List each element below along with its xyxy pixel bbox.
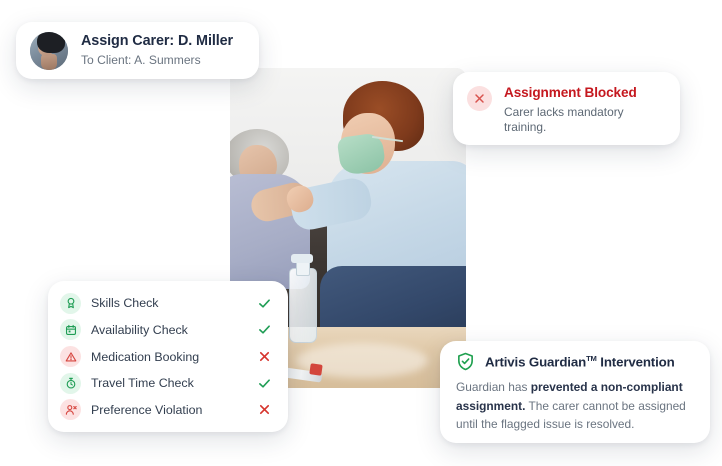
compliance-checklist-card: Skills Check Availability Check [48,281,288,432]
photo-thermometer-tip [310,364,323,376]
avatar-neck [41,54,56,70]
photo-sanitizer-bottle [289,268,317,344]
x-circle-icon [467,86,492,111]
assignment-blocked-text: Assignment Blocked Carer lacks mandatory… [504,84,656,136]
assign-carer-text: Assign Carer: D. Miller To Client: A. Su… [81,33,233,67]
guardian-title-tail: Intervention [597,354,675,369]
pass-check-mark [255,377,271,390]
guardian-intervention-card: Artivis GuardianTM Intervention Guardian… [440,341,710,443]
checklist-row-availability-check[interactable]: Availability Check [60,317,271,344]
shield-check-icon [456,352,475,371]
assign-carer-title: Assign Carer: D. Miller [81,33,233,51]
assignment-blocked-card[interactable]: Assignment Blocked Carer lacks mandatory… [453,72,680,145]
checklist-row-preference-violation[interactable]: Preference Violation [60,396,271,423]
alert-triangle-icon [60,346,81,367]
photo-bottle-pump [291,254,312,264]
checklist-row-medication-booking[interactable]: Medication Booking [60,343,271,370]
guardian-title-main: Artivis Guardian [485,354,586,369]
guardian-body-text: Guardian has prevented a non-compliant a… [456,378,694,434]
screen-canvas: Assign Carer: D. Miller To Client: A. Su… [0,0,722,466]
pass-check-mark [255,323,271,336]
stopwatch-icon [60,373,81,394]
guardian-header: Artivis GuardianTM Intervention [456,352,694,371]
user-x-icon [60,399,81,420]
checklist-label: Medication Booking [91,350,245,364]
assign-carer-card[interactable]: Assign Carer: D. Miller To Client: A. Su… [16,22,259,79]
award-icon [60,293,81,314]
assignment-blocked-subtitle: Carer lacks mandatory training. [504,105,656,136]
checklist-row-travel-time-check[interactable]: Travel Time Check [60,370,271,397]
assign-carer-subtitle: To Client: A. Summers [81,53,233,68]
checklist-label: Travel Time Check [91,376,245,390]
assignment-blocked-title: Assignment Blocked [504,84,656,102]
checklist-label: Skills Check [91,296,245,310]
checklist-label: Preference Violation [91,403,245,417]
guardian-body-lead: Guardian has [456,380,531,394]
fail-cross-mark [255,350,271,363]
avatar-hair [37,32,65,53]
pass-check-mark [255,297,271,310]
avatar [30,32,68,70]
checklist-row-skills-check[interactable]: Skills Check [60,290,271,317]
checklist-label: Availability Check [91,323,245,337]
guardian-title-trademark: TM [586,354,597,363]
calendar-icon [60,319,81,340]
guardian-title: Artivis GuardianTM Intervention [485,354,675,369]
fail-cross-mark [255,403,271,416]
